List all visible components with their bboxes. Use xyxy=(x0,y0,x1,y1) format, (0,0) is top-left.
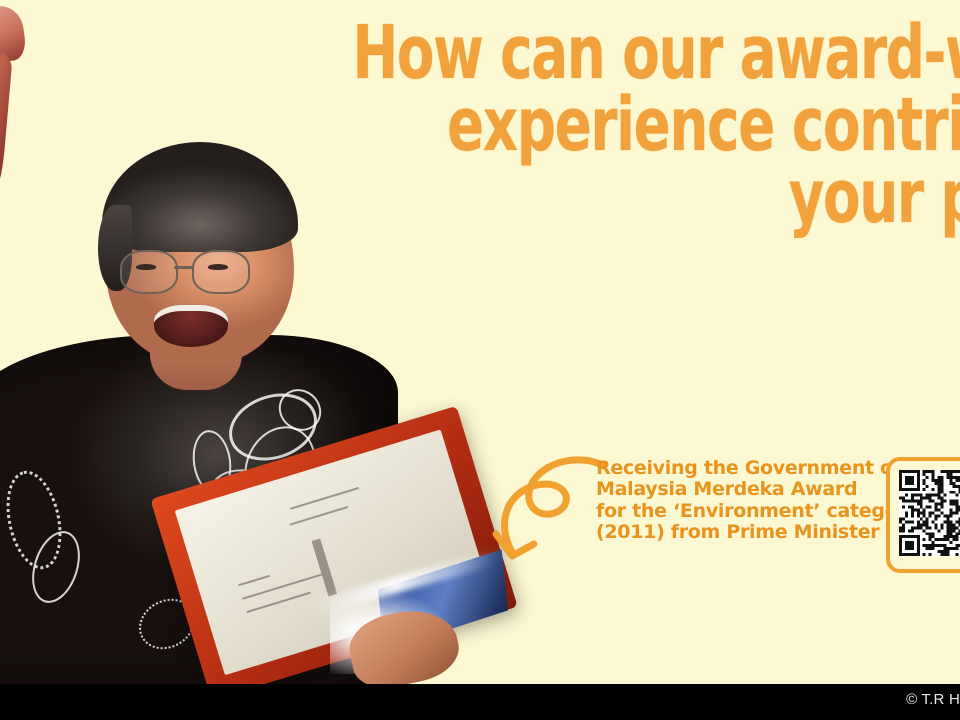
footer-bar: © T.R Hamzah xyxy=(0,684,960,720)
man-holding-award-photo xyxy=(0,0,538,690)
caption-line-4: (2011) from Prime Minister xyxy=(596,522,896,543)
slide-canvas: How can our award-winning experience con… xyxy=(0,0,960,720)
photo-caption: Receiving the Government of Malaysia Mer… xyxy=(596,458,896,543)
copyright-text: © T.R Hamzah xyxy=(906,691,960,708)
certificate-text-line xyxy=(289,506,348,526)
glasses-lens-right xyxy=(192,250,250,294)
smiling-mouth xyxy=(154,305,228,347)
caption-line-3: for the ‘Environment’ category xyxy=(596,501,896,522)
certificate-text-line xyxy=(290,487,360,510)
certificate-signature xyxy=(312,538,337,596)
glasses-lens-left xyxy=(120,250,178,294)
eye-right xyxy=(208,264,228,270)
qr-code-container[interactable] xyxy=(886,457,960,573)
caption-line-1: Receiving the Government of xyxy=(596,458,896,479)
qr-code[interactable] xyxy=(899,470,960,556)
glasses-bridge xyxy=(174,266,194,269)
certificate-text-line xyxy=(238,575,270,587)
raised-arm xyxy=(0,51,13,213)
caption-line-2: Malaysia Merdeka Award xyxy=(596,479,896,500)
certificate-text-line xyxy=(242,574,322,600)
eye-left xyxy=(136,264,156,270)
